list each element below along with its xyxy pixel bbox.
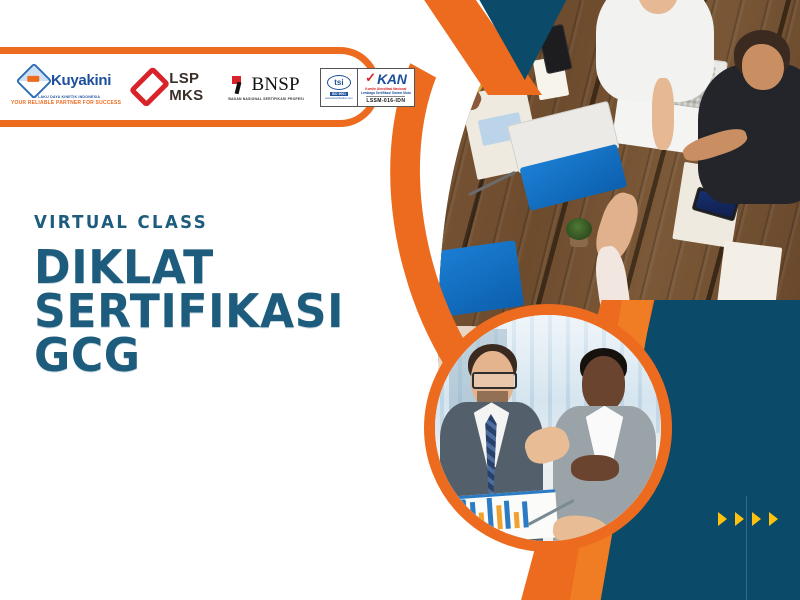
clipboard (443, 500, 468, 538)
face (582, 356, 626, 412)
kan-wordmark: KAN (377, 71, 406, 87)
eyebrow-text: VIRTUAL CLASS (34, 212, 402, 233)
kuyakini-wordmark: Kuyakini (51, 73, 111, 88)
businessmen-discussion-photo (424, 304, 672, 552)
logo-bnsp: BNSP BADAN NASIONAL SERTIFIKASI PROFESI (228, 74, 304, 101)
bnsp-lockup: BNSP (232, 74, 299, 96)
accreditation-logo-bar: Kuyakini PT LAKU DAYA KINETIK INDONESIA … (0, 47, 380, 127)
bnsp-subtitle: BADAN NASIONAL SERTIFIKASI PROFESI (228, 97, 304, 101)
checkmark-icon: ✓ (365, 73, 376, 83)
headline-block: VIRTUAL CLASS DIKLAT SERTIFIKASI GCG (34, 212, 434, 377)
poster-canvas: Kuyakini PT LAKU DAYA KINETIK INDONESIA … (0, 0, 800, 600)
tsi-block: tsi ISO 9001 www.tsicertification.com (321, 69, 358, 106)
logo-lsp-mks: LSP MKS (137, 70, 212, 104)
logo-tsi-kan: tsi ISO 9001 www.tsicertification.com ✓ … (320, 68, 415, 107)
arrow-decoration (718, 512, 778, 526)
kuyakini-company: PT LAKU DAYA KINETIK INDONESIA (32, 96, 100, 100)
title-line-2: GCG (34, 333, 418, 377)
eyeglasses-icon (472, 372, 518, 389)
kan-block: ✓ KAN Komite Akreditasi Nasional Lembaga… (358, 69, 414, 106)
tsi-wordmark: tsi (327, 75, 351, 90)
lsp-wordmark: LSP MKS (169, 70, 212, 104)
kuyakini-mark-icon (16, 62, 53, 99)
tsi-website: www.tsicertification.com (325, 97, 353, 100)
bnsp-wordmark: BNSP (251, 74, 299, 96)
tsi-iso-badge: ISO 9001 (330, 92, 348, 96)
play-arrow-icon (769, 512, 778, 526)
title-line-1: DIKLAT SERTIFIKASI (34, 245, 418, 333)
kuyakini-lockup: Kuyakini (21, 68, 111, 94)
kan-subtitle-2: Lembaga Sertifikasi Sistem Mutu (361, 91, 411, 95)
kan-lockup: ✓ KAN (365, 71, 406, 87)
page-title: DIKLAT SERTIFIKASI GCG (34, 245, 418, 377)
clasped-hands (571, 455, 619, 481)
play-arrow-icon (752, 512, 761, 526)
kuyakini-tagline: YOUR RELIABLE PARTNER FOR SUCCESS (11, 101, 121, 106)
kan-accreditation-code: LSSM-016-IDN (366, 96, 405, 104)
lsp-diamond-icon (129, 66, 171, 108)
logo-kuyakini: Kuyakini PT LAKU DAYA KINETIK INDONESIA … (11, 68, 121, 107)
play-arrow-icon (735, 512, 744, 526)
bnsp-figure-icon (232, 75, 248, 95)
play-arrow-icon (718, 512, 727, 526)
